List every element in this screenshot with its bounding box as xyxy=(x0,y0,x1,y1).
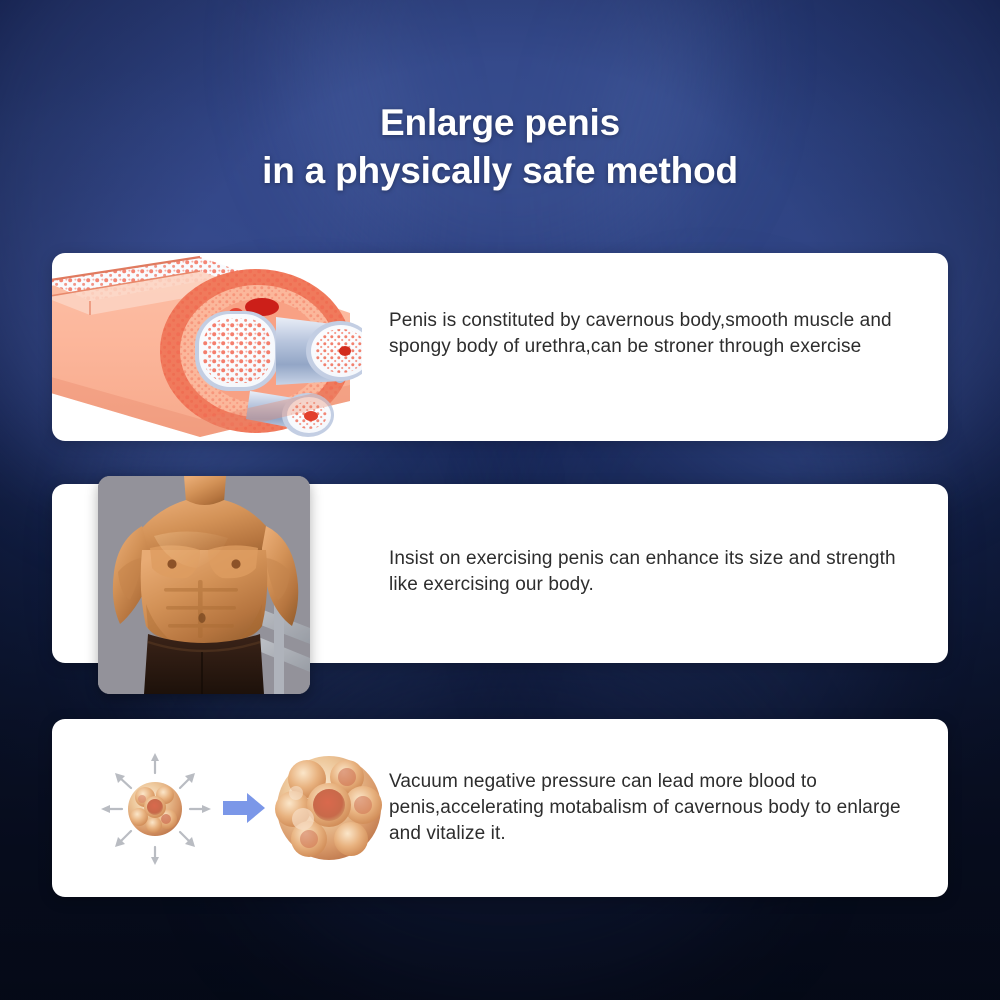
card-anatomy-description: Penis is constituted by cavernous body,s… xyxy=(389,308,909,360)
card-bodybuilder-description: Insist on exercising penis can enhance i… xyxy=(389,546,909,598)
page-title-line-1: Enlarge penis xyxy=(380,102,620,143)
feature-card-anatomy: Penis is constituted by cavernous body,s… xyxy=(52,253,948,441)
feature-card-cells: Vacuum negative pressure can lead more b… xyxy=(52,719,948,897)
product-infographic-page: Enlarge penis in a physically safe metho… xyxy=(0,0,1000,1000)
feature-card-bodybuilder: Insist on exercising penis can enhance i… xyxy=(52,484,948,663)
cell-enlargement-diagram xyxy=(97,747,387,869)
card-cells-description: Vacuum negative pressure can lead more b… xyxy=(389,769,909,847)
page-title-line-2: in a physically safe method xyxy=(0,147,1000,195)
growth-arrow xyxy=(223,793,265,823)
penis-cross-section-illustration xyxy=(52,253,362,441)
page-title: Enlarge penis in a physically safe metho… xyxy=(0,99,1000,195)
bodybuilder-torso-photo xyxy=(98,476,310,694)
